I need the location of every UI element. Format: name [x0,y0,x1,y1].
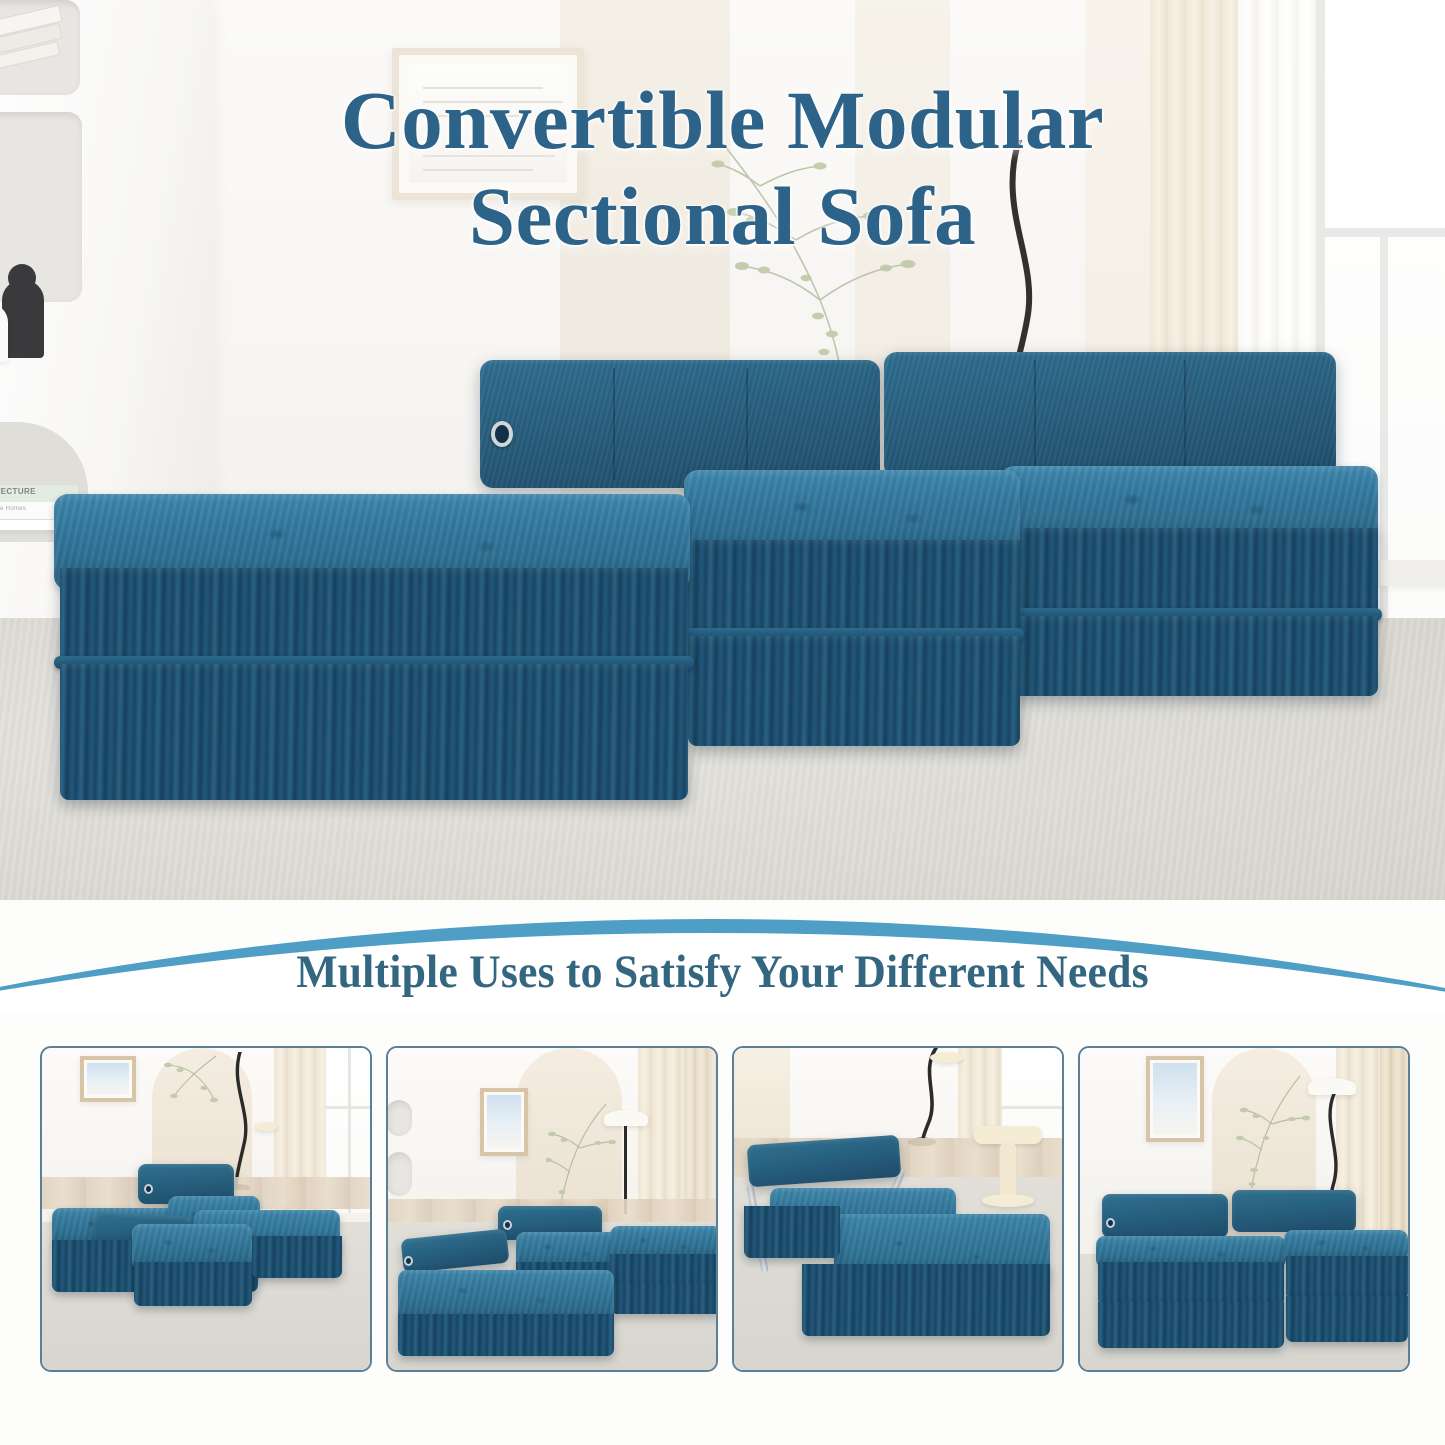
skirt-right-lower [1000,616,1378,696]
thumb-picture-canvas [487,1095,521,1149]
thumb-skirt [744,1206,840,1258]
thumb-side-table-base [982,1194,1034,1207]
product-marketing-image: ARCHITECTURE Hand Made Homes [0,0,1445,1445]
page-title: Convertible Modular Sectional Sofa [0,72,1445,265]
thumb-skirt [802,1264,1050,1336]
thumb-skirt [1286,1296,1408,1342]
thumb-backrest-left [1102,1194,1228,1238]
thumb-framed-picture [1146,1056,1204,1142]
thumb-shelf-niche [386,1152,412,1196]
thumb-flat-bed[interactable] [40,1046,372,1372]
thumb-picture-canvas [1153,1063,1197,1135]
skirt-left-upper [60,568,688,668]
thumbnail-gallery [40,1046,1410,1372]
thumb-skirt [610,1284,718,1314]
thumb-picture-canvas [87,1063,129,1095]
thumb-framed-picture [80,1056,136,1102]
thumb-side-table [254,1122,278,1131]
skirt-center-upper [688,540,1020,640]
thumb-side-table-top [930,1052,964,1063]
title-line-1: Convertible Modular [0,72,1445,168]
thumb-framed-picture [480,1088,528,1156]
thumb-two-seat-sofa[interactable] [1078,1046,1410,1372]
thumb-skirt [134,1262,252,1306]
thumb-grommet-icon [1106,1218,1115,1228]
title-line-2: Sectional Sofa [0,168,1445,264]
thumb-chaise-lounge[interactable] [386,1046,718,1372]
thumb-plant-branch-icon [160,1054,230,1116]
thumb-skirt [1098,1302,1284,1348]
thumb-grommet-icon [144,1184,153,1194]
thumb-side-table-leg [1000,1142,1016,1198]
backrest-right [884,352,1336,478]
thumb-lamp-shade [1308,1078,1356,1095]
thumb-shelf-niche [386,1100,412,1136]
skirt-center-lower [688,636,1020,746]
thumb-skirt [610,1254,718,1286]
thumb-skirt [398,1314,614,1356]
thumb-window-mullion [1002,1106,1064,1109]
thumb-grommet-icon [503,1220,512,1230]
thumb-lamp-shade [604,1110,648,1126]
section-subtitle: Multiple Uses to Satisfy Your Different … [51,945,1395,999]
thumb-plant-branch-icon [1236,1072,1312,1188]
thumb-grommet-icon [404,1256,413,1266]
skirt-right-upper [1000,528,1378,620]
thumb-backrest-right [1232,1190,1356,1232]
thumb-single-recliner[interactable] [732,1046,1064,1372]
thumb-skirt [1098,1262,1284,1306]
thumb-skirt [1286,1256,1408,1300]
backrest-left [480,360,880,488]
skirt-left-lower [60,664,688,800]
hero-image: ARCHITECTURE Hand Made Homes [0,0,1445,900]
grommet-icon [491,421,513,447]
thumb-skirt [252,1236,342,1278]
